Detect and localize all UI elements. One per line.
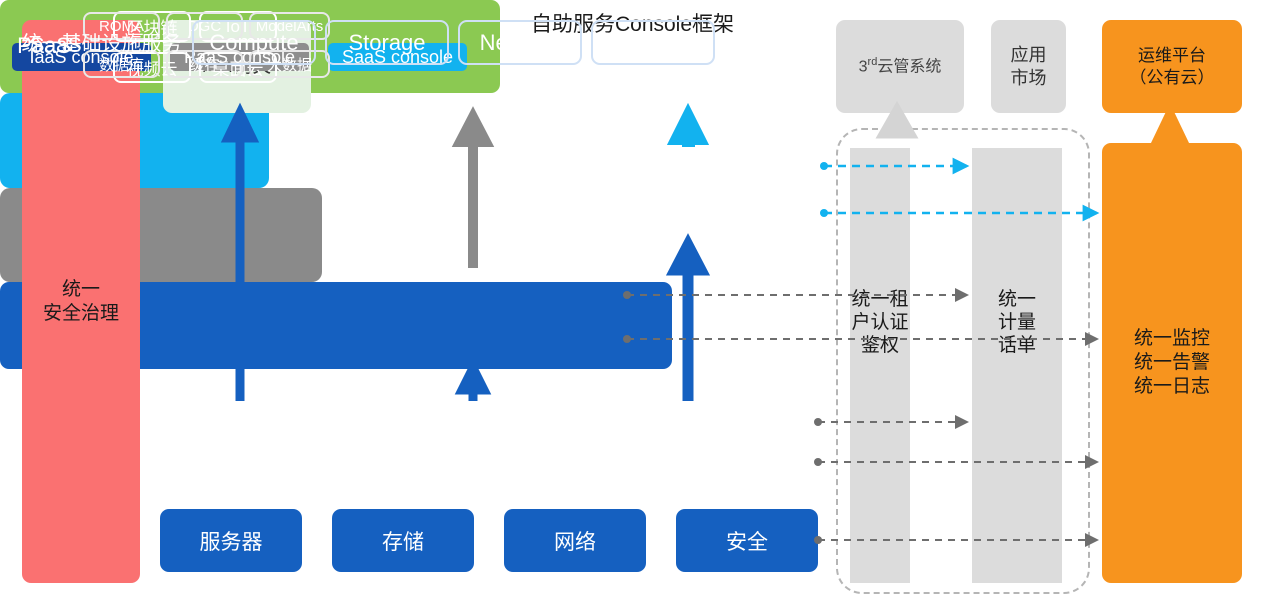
- arrow-shared-to-third-party-cloud: [885, 112, 909, 133]
- arrow-infra-to-saas: [675, 245, 701, 401]
- dashed-saas-to-ops: [820, 209, 1097, 217]
- dashed-paas-to-auth: [623, 291, 967, 299]
- arrow-infra-to-api-gateway: [228, 113, 252, 401]
- dashed-paas-to-ops: [623, 335, 1097, 343]
- dashed-hardware-to-ops: [814, 536, 1097, 544]
- arrow-saas-to-console: [675, 114, 701, 147]
- architecture-diagram: 统一 安全治理 API网关 自助服务Console框架 IaaS console…: [0, 0, 1265, 605]
- connector-arrows-layer: [0, 0, 1265, 605]
- dashed-infra-to-ops: [814, 458, 1097, 466]
- arrow-ops-column-to-ops-platform: [1159, 116, 1181, 143]
- arrow-infra-to-paas: [462, 368, 484, 401]
- dashed-infra-to-auth: [814, 418, 967, 426]
- arrow-paas-to-console: [460, 117, 486, 268]
- dashed-saas-to-metering: [820, 162, 967, 170]
